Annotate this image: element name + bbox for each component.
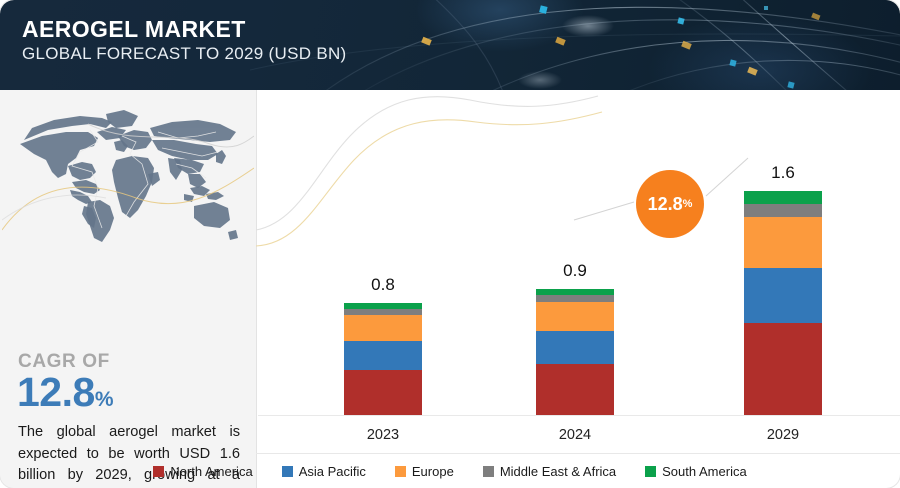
- screenshot-root: AEROGEL MARKET GLOBAL FORECAST TO 2029 (…: [0, 0, 900, 488]
- legend-label: Europe: [412, 464, 454, 479]
- legend-divider: [256, 453, 900, 454]
- world-map-icon: [2, 102, 254, 252]
- cagr-number: 12.8: [17, 369, 95, 415]
- legend-item-europe[interactable]: Europe: [395, 464, 454, 479]
- cagr-percent-sign: %: [95, 388, 113, 411]
- legend-swatch-icon: [153, 466, 164, 477]
- cagr-callout-unit: %: [683, 198, 693, 210]
- legend-item-asia-pacific[interactable]: Asia Pacific: [282, 464, 366, 479]
- legend-label: South America: [662, 464, 747, 479]
- legend-swatch-icon: [395, 466, 406, 477]
- header-banner: AEROGEL MARKET GLOBAL FORECAST TO 2029 (…: [0, 0, 900, 90]
- cagr-callout-bubble: 12.8%: [636, 170, 704, 238]
- legend-swatch-icon: [483, 466, 494, 477]
- legend-swatch-icon: [645, 466, 656, 477]
- cagr-callout-value: 12.8: [648, 194, 683, 215]
- infographic-card: AEROGEL MARKET GLOBAL FORECAST TO 2029 (…: [0, 0, 900, 488]
- legend-item-middle-east-africa[interactable]: Middle East & Africa: [483, 464, 616, 479]
- legend-swatch-icon: [282, 466, 293, 477]
- legend-item-north-america[interactable]: North America: [153, 464, 252, 479]
- header-text-block: AEROGEL MARKET GLOBAL FORECAST TO 2029 (…: [22, 16, 347, 65]
- page-subtitle: GLOBAL FORECAST TO 2029 (USD BN): [22, 43, 347, 65]
- legend-item-south-america[interactable]: South America: [645, 464, 747, 479]
- chart-legend: North AmericaAsia PacificEuropeMiddle Ea…: [0, 455, 900, 488]
- page-title: AEROGEL MARKET: [22, 16, 347, 42]
- cagr-value: 12.8%: [17, 371, 113, 421]
- chart-panel: 0.820230.920241.62029 12.8%: [256, 90, 900, 488]
- legend-label: Middle East & Africa: [500, 464, 616, 479]
- callout-leader-lines: [256, 90, 900, 488]
- legend-label: Asia Pacific: [299, 464, 366, 479]
- sidebar-panel: CAGR OF 12.8% The global aerogel market …: [0, 90, 256, 488]
- legend-label: North America: [170, 464, 252, 479]
